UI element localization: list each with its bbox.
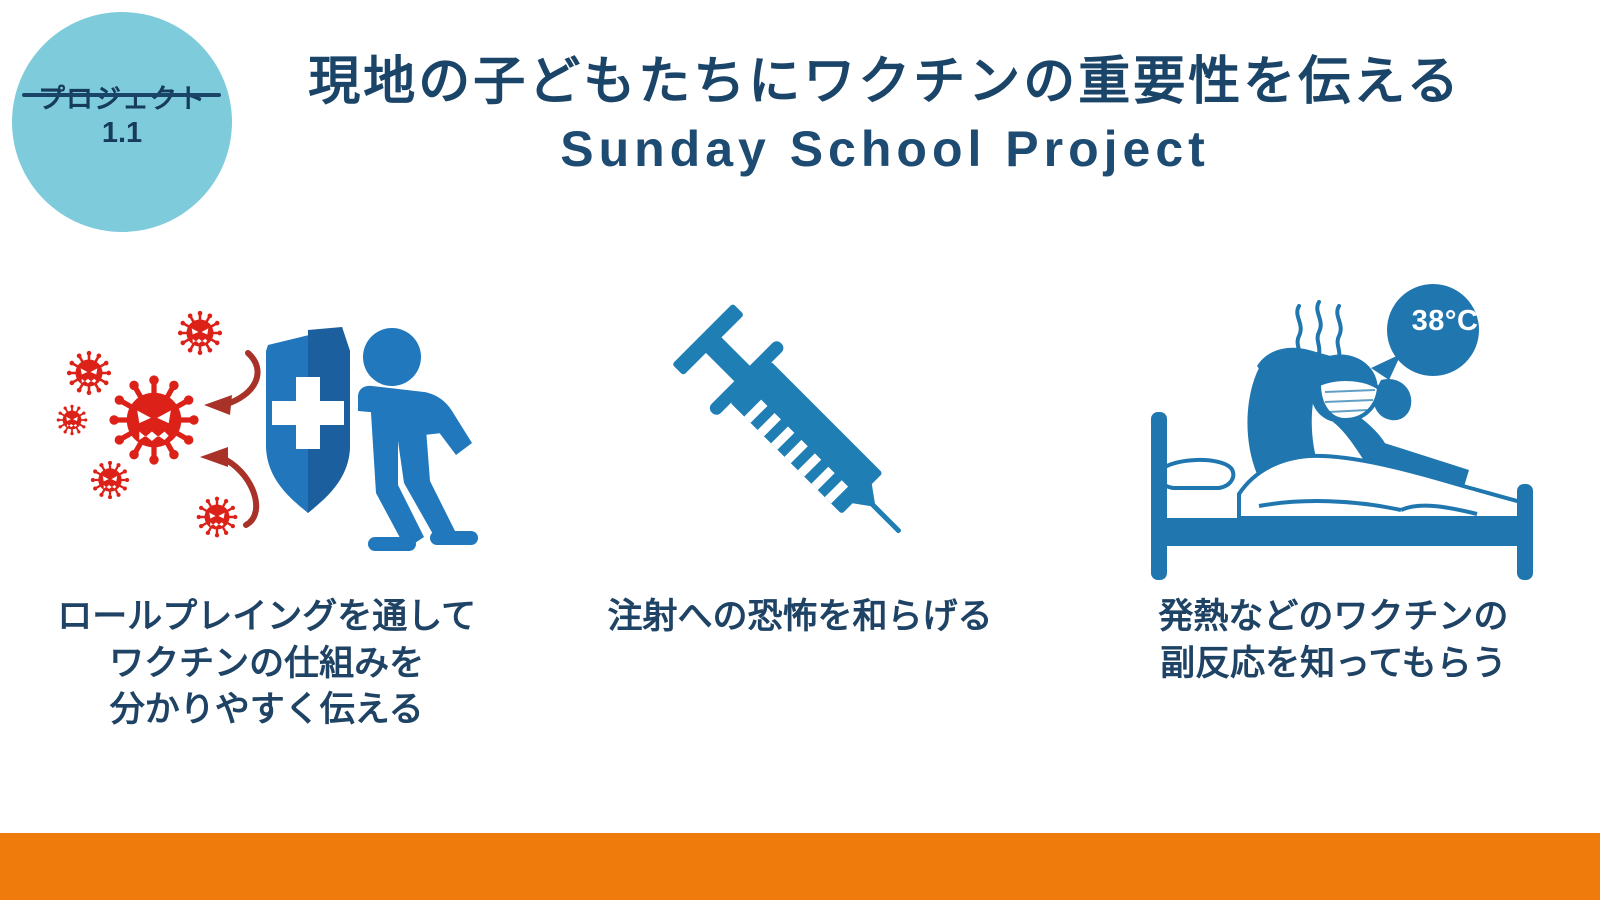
caption-line-2: 副反応を知ってもらう xyxy=(1158,641,1508,688)
temperature-label: 38°C xyxy=(1399,305,1491,338)
card-fever: 発熱などのワクチンの 副反応を知ってもらう xyxy=(1067,280,1600,800)
header: プロジェクト 1.1 現地の子どもたちにワクチンの重要性を伝える Sunday … xyxy=(0,0,1600,245)
caption-line-1: ロールプレイングを通して xyxy=(57,594,476,641)
horizontal-rule-icon xyxy=(22,93,221,97)
pillow xyxy=(1160,460,1234,488)
caption-line-3: 分かりやすく伝える xyxy=(57,687,476,734)
footer-accent-bar xyxy=(0,833,1600,900)
blanket xyxy=(1239,456,1521,518)
card-caption-fever: 発熱などのワクチンの 副反応を知ってもらう xyxy=(1158,594,1508,687)
card-row: ロールプレイングを通して ワクチンの仕組みを 分かりやすく伝える xyxy=(0,280,1600,800)
page-title-japanese: 現地の子どもたちにワクチンの重要性を伝える xyxy=(250,52,1520,113)
badge-label: プロジェクト xyxy=(38,84,206,116)
caption-line-1: 発熱などのワクチンの xyxy=(1158,594,1508,641)
virus-shield-person-icon xyxy=(32,285,502,575)
card-art-fever xyxy=(1067,280,1600,580)
card-art-roleplay xyxy=(0,280,533,580)
caption-line-1: 注射への恐怖を和らげる xyxy=(607,594,992,641)
card-caption-roleplay: ロールプレイングを通して ワクチンの仕組みを 分かりやすく伝える xyxy=(57,594,476,734)
page-title-english: Sunday School Project xyxy=(250,119,1520,179)
syringe-icon xyxy=(650,285,950,575)
mask-icon xyxy=(1319,379,1379,420)
project-badge: プロジェクト 1.1 xyxy=(12,12,232,232)
card-syringe: 注射への恐怖を和らげる xyxy=(533,280,1066,800)
title-block: 現地の子どもたちにワクチンの重要性を伝える Sunday School Proj… xyxy=(250,52,1520,179)
card-art-syringe xyxy=(533,280,1066,580)
card-caption-syringe: 注射への恐怖を和らげる xyxy=(607,594,992,641)
caption-line-2: ワクチンの仕組みを xyxy=(57,641,476,688)
card-roleplay: ロールプレイングを通して ワクチンの仕組みを 分かりやすく伝える xyxy=(0,280,533,800)
badge-number: 1.1 xyxy=(102,116,142,150)
